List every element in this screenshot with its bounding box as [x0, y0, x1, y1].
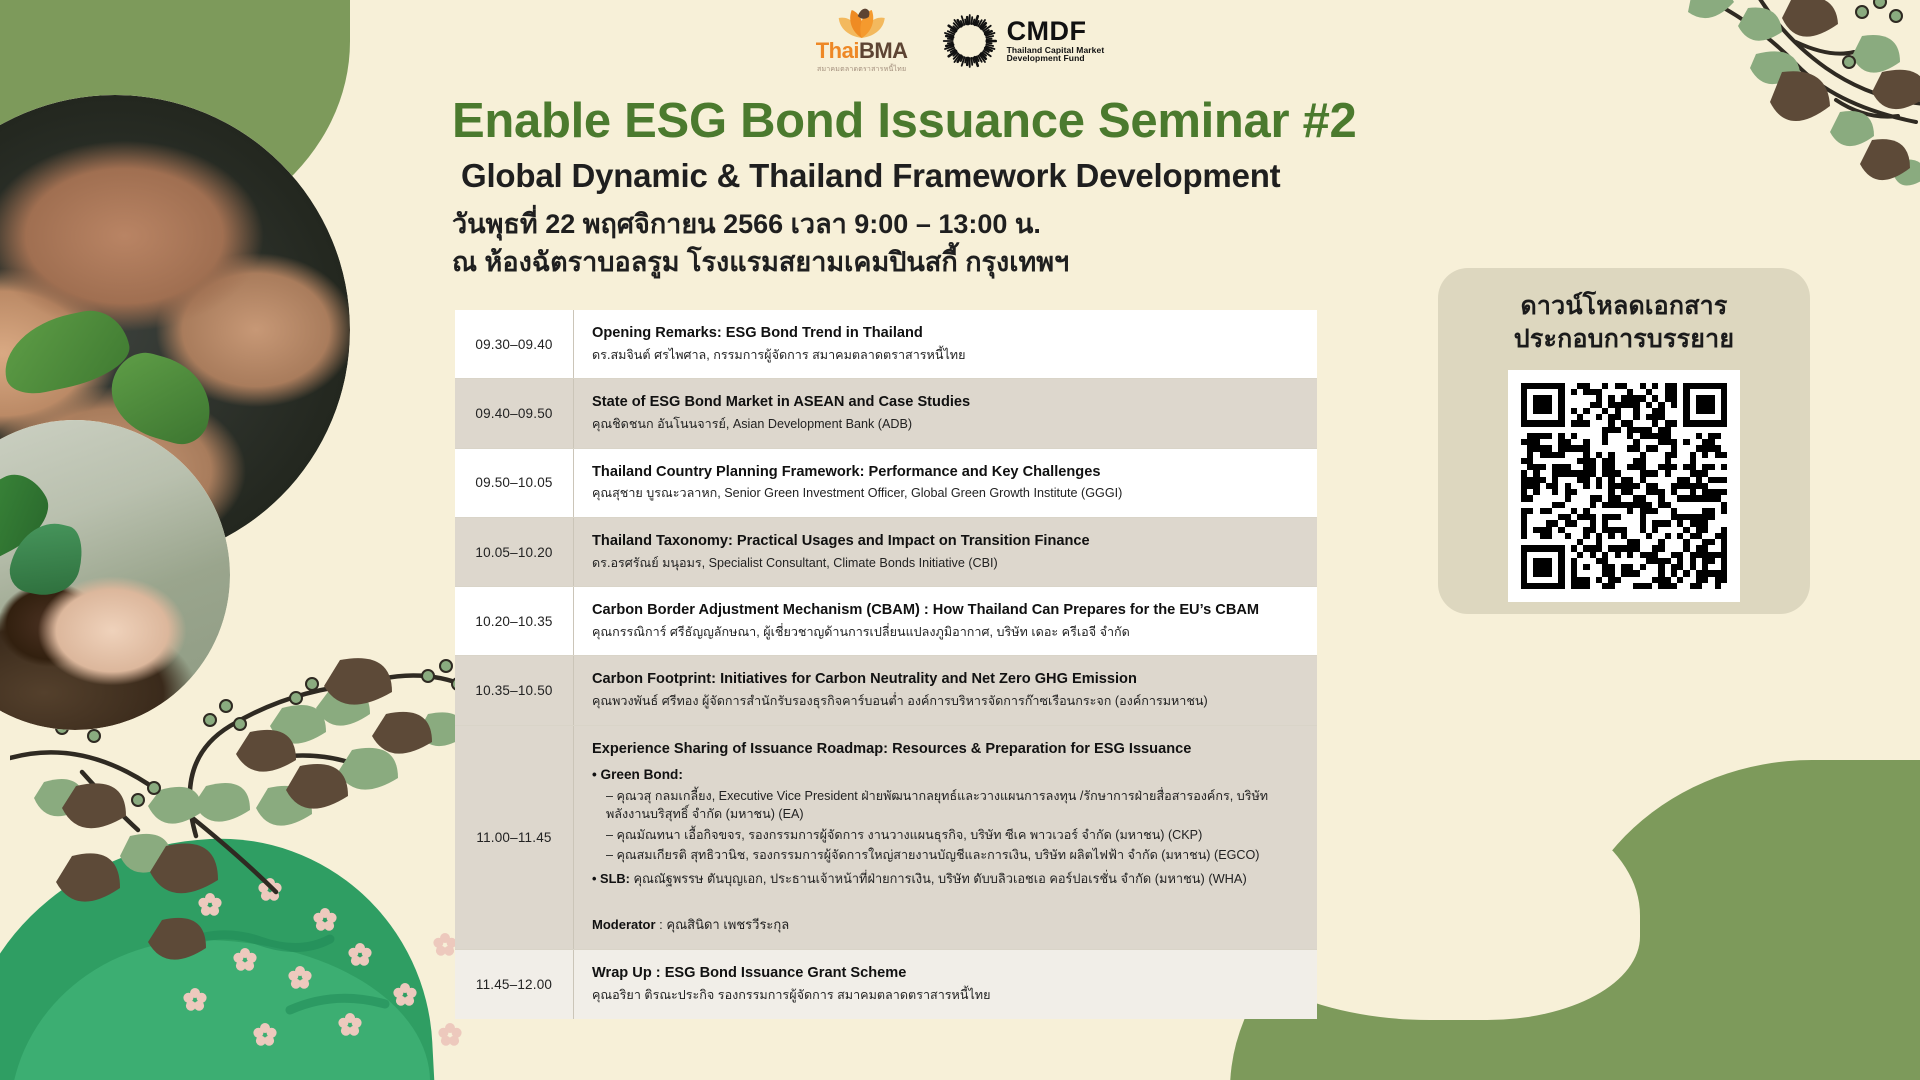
- qr-label-line2: ประกอบการบรรยาย: [1514, 323, 1734, 356]
- table-row: 10.05–10.20 Thailand Taxonomy: Practical…: [455, 517, 1317, 586]
- green-bond-item: – คุณสมเกียรติ สุทธิวานิช, รองกรรมการผู้…: [592, 847, 1301, 865]
- row-speaker: คุณพวงพันธ์ ศรีทอง ผู้จัดการสำนักรับรองธ…: [592, 693, 1301, 711]
- cmdf-wordmark: CMDF: [1007, 18, 1105, 46]
- row-speaker: ดร.อรศรัณย์ มนุอมร, Specialist Consultan…: [592, 555, 1301, 573]
- table-row: 09.40–09.50 State of ESG Bond Market in …: [455, 378, 1317, 447]
- row-body: Thailand Country Planning Framework: Per…: [573, 449, 1317, 517]
- qr-label: ดาวน์โหลดเอกสาร ประกอบการบรรยาย: [1514, 290, 1734, 356]
- table-row: 10.35–10.50 Carbon Footprint: Initiative…: [455, 655, 1317, 724]
- row-title: Thailand Taxonomy: Practical Usages and …: [592, 532, 1301, 551]
- qr-code-icon[interactable]: [1521, 383, 1727, 589]
- table-row: 10.20–10.35 Carbon Border Adjustment Mec…: [455, 586, 1317, 655]
- thaibma-lotus-icon: [834, 6, 890, 40]
- row-body: Carbon Border Adjustment Mechanism (CBAM…: [573, 587, 1317, 655]
- table-row: 09.50–10.05 Thailand Country Planning Fr…: [455, 448, 1317, 517]
- slb-text: คุณณัฐพรรษ ตันบุญเอก, ประธานเจ้าหน้าที่ฝ…: [630, 871, 1247, 886]
- title-block: Enable ESG Bond Issuance Seminar #2 Glob…: [452, 96, 1582, 280]
- row-time: 09.40–09.50: [455, 379, 573, 447]
- row-time: 10.35–10.50: [455, 656, 573, 724]
- row-title: Carbon Border Adjustment Mechanism (CBAM…: [592, 601, 1301, 620]
- row-speaker: ดร.สมจินต์ ศรไพศาล, กรรมการผู้จัดการ สมา…: [592, 347, 1301, 365]
- slb-label: • SLB:: [592, 871, 630, 886]
- poster-canvas: ThaiBMA สมาคมตลาดตราสารหนี้ไทย CMDF: [0, 0, 1920, 1080]
- row-title: Wrap Up : ESG Bond Issuance Grant Scheme: [592, 964, 1301, 983]
- agenda-table: 09.30–09.40 Opening Remarks: ESG Bond Tr…: [455, 310, 1317, 1019]
- row-time: 09.50–10.05: [455, 449, 573, 517]
- row-title: Thailand Country Planning Framework: Per…: [592, 463, 1301, 482]
- row-title: Experience Sharing of Issuance Roadmap: …: [592, 740, 1301, 759]
- row-body: Carbon Footprint: Initiatives for Carbon…: [573, 656, 1317, 724]
- row-speaker: คุณชิดชนก อันโนนจารย์, Asian Development…: [592, 416, 1301, 434]
- row-title: State of ESG Bond Market in ASEAN and Ca…: [592, 393, 1301, 412]
- event-venue: ณ ห้องฉัตราบอลรูม โรงแรมสยามเคมปินสกี้ ก…: [452, 245, 1582, 281]
- row-speaker: คุณอริยา ติรณะประกิจ รองกรรมการผู้จัดการ…: [592, 987, 1301, 1005]
- row-title: Opening Remarks: ESG Bond Trend in Thail…: [592, 324, 1301, 343]
- cmdf-subtitle-line2: Development Fund: [1007, 54, 1105, 63]
- green-bond-item: – คุณวสุ กลมเกลี้ยง, Executive Vice Pres…: [592, 788, 1301, 824]
- green-bond-item: – คุณมัณทนา เอื้อกิจขจร, รองกรรมการผู้จั…: [592, 827, 1301, 845]
- moderator-line: Moderator : คุณสินิดา เพชรวีระกุล: [592, 914, 1301, 935]
- moderator-label: Moderator: [592, 917, 656, 932]
- qr-label-line1: ดาวน์โหลดเอกสาร: [1514, 290, 1734, 323]
- download-qr-card[interactable]: ดาวน์โหลดเอกสาร ประกอบการบรรยาย: [1438, 268, 1810, 614]
- thaibma-subtitle: สมาคมตลาดตราสารหนี้ไทย: [817, 64, 906, 75]
- row-speaker: คุณสุชาย บูรณะวลาหก, Senior Green Invest…: [592, 485, 1301, 503]
- row-body: Experience Sharing of Issuance Roadmap: …: [573, 726, 1317, 949]
- thaibma-wordmark: ThaiBMA: [816, 40, 908, 62]
- logo-bar: ThaiBMA สมาคมตลาดตราสารหนี้ไทย CMDF: [816, 6, 1105, 75]
- logo-thaibma: ThaiBMA สมาคมตลาดตราสารหนี้ไทย: [816, 6, 908, 75]
- table-row: 11.00–11.45 Experience Sharing of Issuan…: [455, 725, 1317, 949]
- row-body: Opening Remarks: ESG Bond Trend in Thail…: [573, 310, 1317, 378]
- row-time: 11.00–11.45: [455, 726, 573, 949]
- green-bond-label: • Green Bond:: [592, 766, 1301, 784]
- cmdf-sunburst-icon: [942, 13, 998, 69]
- table-row: 09.30–09.40 Opening Remarks: ESG Bond Tr…: [455, 310, 1317, 378]
- moderator-text: : คุณสินิดา เพชรวีระกุล: [656, 917, 790, 932]
- slb-line: • SLB: คุณณัฐพรรษ ตันบุญเอก, ประธานเจ้าห…: [592, 870, 1301, 888]
- row-body: Thailand Taxonomy: Practical Usages and …: [573, 518, 1317, 586]
- row-time: 11.45–12.00: [455, 950, 573, 1018]
- logo-cmdf: CMDF Thailand Capital Market Development…: [942, 13, 1105, 69]
- page-title: Enable ESG Bond Issuance Seminar #2: [452, 96, 1582, 148]
- row-time: 09.30–09.40: [455, 310, 573, 378]
- photo-planting-hands: [0, 420, 230, 730]
- row-title: Carbon Footprint: Initiatives for Carbon…: [592, 670, 1301, 689]
- row-body: State of ESG Bond Market in ASEAN and Ca…: [573, 379, 1317, 447]
- row-speaker: คุณกรรณิการ์ ศรีธัญญลักษณา, ผู้เชี่ยวชาญ…: [592, 624, 1301, 642]
- page-subtitle: Global Dynamic & Thailand Framework Deve…: [461, 157, 1582, 195]
- decor-foliage-top-right: [1600, 0, 1920, 230]
- row-body: Wrap Up : ESG Bond Issuance Grant Scheme…: [573, 950, 1317, 1018]
- event-date-time: วันพุธที่ 22 พฤศจิกายน 2566 เวลา 9:00 – …: [452, 207, 1582, 243]
- qr-code-box[interactable]: [1508, 370, 1740, 602]
- table-row: 11.45–12.00 Wrap Up : ESG Bond Issuance …: [455, 949, 1317, 1018]
- row-time: 10.20–10.35: [455, 587, 573, 655]
- row-time: 10.05–10.20: [455, 518, 573, 586]
